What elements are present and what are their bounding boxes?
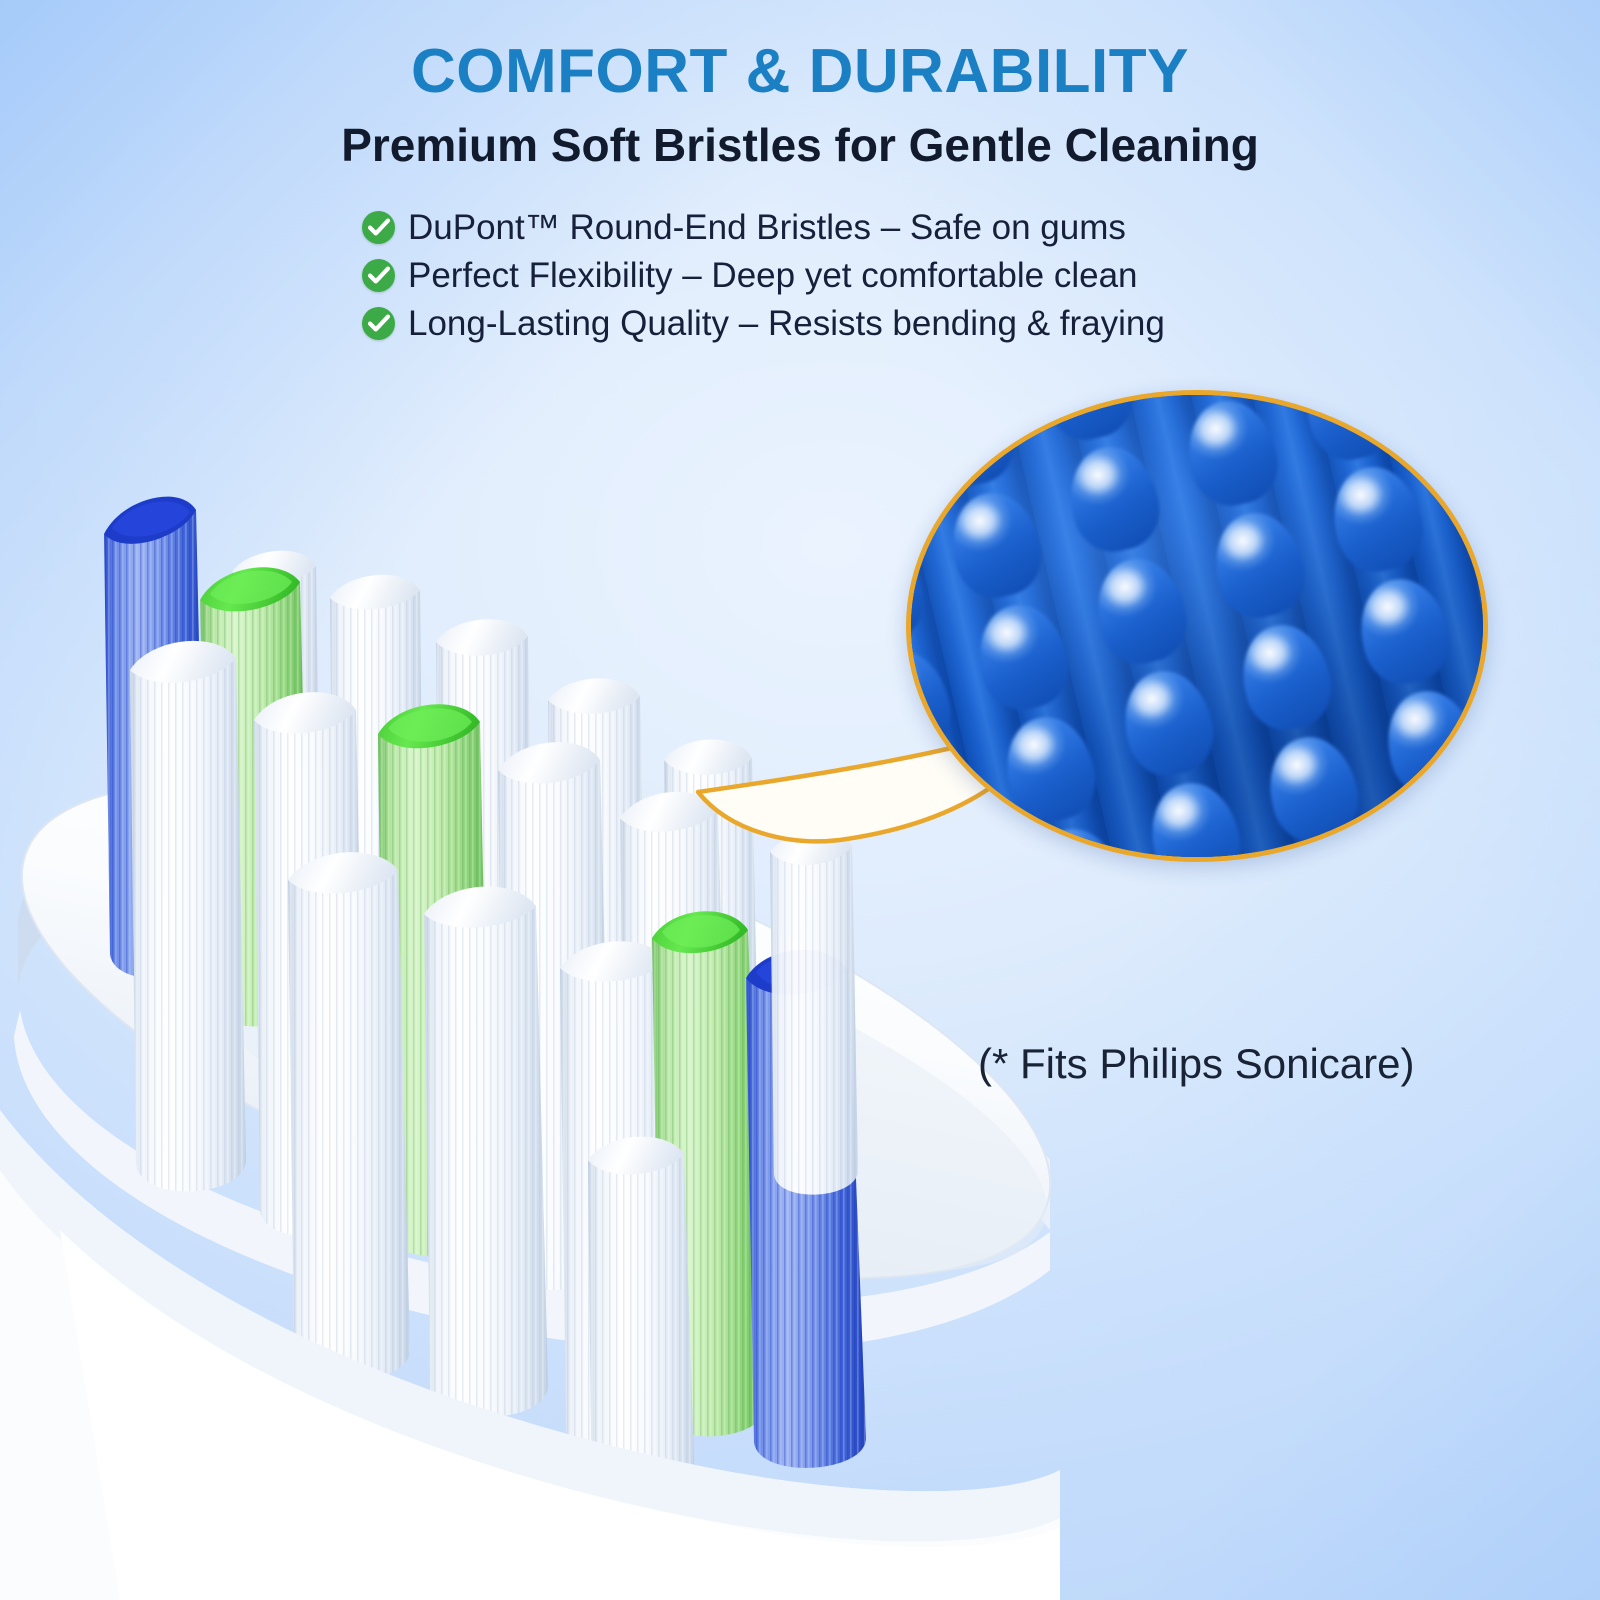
page-title: COMFORT & DURABILITY <box>0 36 1600 107</box>
compatibility-note: (* Fits Philips Sonicare) <box>978 1040 1414 1088</box>
bristle-tip-dome <box>1114 663 1221 784</box>
bristle-tip-dome <box>1404 795 1488 862</box>
bristle-tip-dome <box>1296 390 1403 467</box>
bristle-tip-dome <box>1232 617 1339 738</box>
tuft-white-mid-1 <box>130 641 246 1191</box>
bristle-tip-dome <box>1087 551 1194 672</box>
list-item: Long-Lasting Quality – Resists bending &… <box>362 299 1262 347</box>
bristle-tip-dome <box>1286 841 1393 862</box>
bristle-tip-dome <box>1414 390 1488 421</box>
tuft-white-front-1 <box>288 852 410 1381</box>
bristle-tip-domes <box>906 390 1488 862</box>
product-feature-poster: COMFORT & DURABILITY Premium Soft Bristl… <box>0 0 1600 1600</box>
bristle-tip-dome <box>942 485 1049 606</box>
magnified-bristle-tips <box>906 390 1488 862</box>
feature-text: Perfect Flexibility – Deep yet comfortab… <box>408 258 1138 293</box>
bristle-tip-dome <box>996 709 1103 830</box>
feature-list: DuPont™ Round-End Bristles – Safe on gum… <box>362 203 1262 347</box>
bristle-tip-dome <box>1323 459 1430 580</box>
list-item: DuPont™ Round-End Bristles – Safe on gum… <box>362 203 1262 251</box>
check-circle-icon <box>362 307 395 340</box>
tuft-white-right-small-1 <box>770 832 858 1195</box>
bristle-tip-dome <box>1205 505 1312 626</box>
list-item: Perfect Flexibility – Deep yet comfortab… <box>362 251 1262 299</box>
bristle-tip-dome <box>1350 571 1457 692</box>
bristle-tip-dome <box>1151 390 1258 401</box>
check-circle-icon <box>362 259 395 292</box>
bristle-tip-dome <box>1023 821 1130 862</box>
bristle-tip-dome <box>906 531 932 652</box>
bristle-tip-dome <box>1441 413 1488 534</box>
bristle-tip-dome <box>915 390 1022 493</box>
tuft-white-front-2 <box>424 886 548 1417</box>
bristle-tip-dome <box>969 597 1076 718</box>
bristle-tip-dome <box>1033 390 1140 447</box>
feature-text: DuPont™ Round-End Bristles – Safe on gum… <box>408 210 1126 245</box>
bristle-tip-dome <box>906 755 986 862</box>
bristle-tip-dome <box>1377 683 1484 804</box>
bristle-tip-dome <box>1060 439 1167 560</box>
magnifier-callout <box>690 390 1480 870</box>
check-circle-icon <box>362 211 395 244</box>
bristle-tip-dome <box>1178 393 1285 514</box>
bristle-tip-dome <box>1259 729 1366 850</box>
page-subtitle: Premium Soft Bristles for Gentle Cleanin… <box>0 118 1600 172</box>
bristle-tip-dome <box>906 643 959 764</box>
bristle-tip-dome <box>1141 775 1248 862</box>
feature-text: Long-Lasting Quality – Resists bending &… <box>408 306 1165 341</box>
